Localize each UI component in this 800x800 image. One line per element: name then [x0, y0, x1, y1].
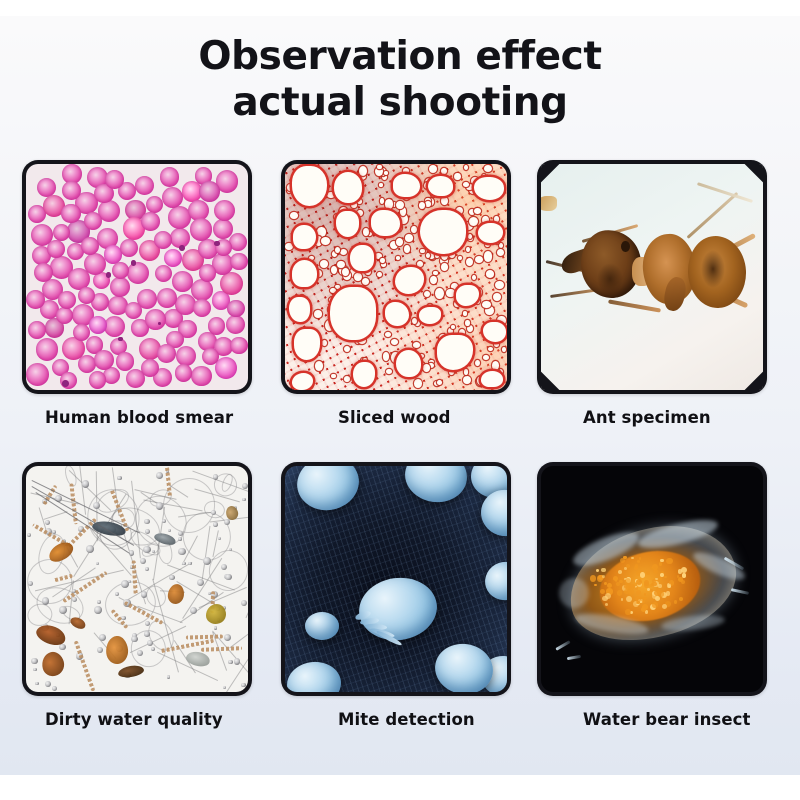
wood-vessel-pore: [420, 210, 466, 254]
micro-organism-dot: [144, 631, 150, 637]
red-blood-cell: [190, 218, 212, 240]
micro-organism-dot: [97, 647, 103, 653]
gut-granule: [655, 578, 657, 580]
wood-vessel-pore: [292, 166, 327, 206]
wood-small-cell: [483, 355, 489, 360]
micro-organism-dot: [31, 658, 38, 665]
micro-organism-dot: [35, 682, 39, 686]
wood-small-cell: [351, 202, 357, 207]
wood-small-cell: [463, 311, 467, 315]
red-blood-cell: [104, 316, 125, 337]
wood-small-cell: [464, 165, 468, 170]
sample-caption: Sliced wood: [281, 408, 511, 427]
gallery-item-mite-detection[interactable]: Mite detection: [281, 462, 511, 729]
micro-organism-dot: [190, 607, 197, 614]
wood-small-cell: [417, 261, 423, 267]
gut-granule: [602, 575, 605, 578]
micro-organism-dot: [241, 683, 245, 687]
red-blood-cell: [62, 181, 81, 200]
gut-granule: [647, 588, 650, 591]
wood-small-cell: [363, 228, 369, 235]
gut-granule: [652, 579, 656, 583]
gallery-row-1: Human blood smear Sliced wood: [22, 160, 778, 462]
wood-small-cell: [484, 251, 493, 261]
sample-image-card[interactable]: [537, 160, 767, 394]
red-blood-cell: [78, 287, 95, 304]
platelet-speck: [118, 337, 123, 342]
wood-small-cell: [451, 325, 455, 329]
wood-small-cell: [441, 197, 448, 205]
wood-small-cell: [381, 262, 386, 266]
red-blood-cell: [226, 315, 245, 334]
wood-vessel-pore: [330, 287, 376, 340]
wood-vessel-pore: [393, 174, 420, 197]
bacteria-chain: [73, 640, 95, 691]
gut-granule: [658, 584, 662, 588]
micro-organism-dot: [145, 529, 150, 534]
wood-small-cell: [437, 380, 442, 385]
sample-image-card[interactable]: [22, 160, 252, 394]
sample-image-mite-detection: [285, 466, 507, 692]
wood-small-cell: [465, 320, 469, 325]
micro-organism-dot: [45, 520, 50, 525]
wood-small-cell: [357, 199, 362, 204]
sample-image-sliced-wood: [285, 164, 507, 390]
wood-small-cell: [314, 310, 322, 317]
micro-organism-dot: [213, 522, 218, 527]
tardigrade-claw: [555, 640, 570, 651]
red-blood-cell: [116, 352, 134, 370]
wood-small-cell: [405, 234, 413, 241]
gut-granule: [605, 603, 608, 606]
gut-granule: [594, 584, 597, 587]
sample-gallery: Human blood smear Sliced wood: [22, 160, 778, 764]
micro-organism-dot: [42, 597, 49, 604]
ant-limb-6: [697, 182, 753, 203]
red-blood-cell: [141, 359, 159, 377]
gut-granule: [649, 584, 652, 587]
red-blood-cell: [199, 264, 216, 281]
wood-vessel-pore: [478, 223, 503, 243]
micro-organism-dot: [45, 681, 51, 687]
red-blood-cell: [220, 272, 243, 295]
wood-vessel-pore: [385, 302, 409, 325]
micro-organism-dot: [167, 675, 170, 678]
wood-vessel-pore: [293, 225, 316, 250]
wood-small-cell: [386, 369, 392, 374]
wood-vessel-pore: [371, 210, 400, 236]
red-blood-cell: [145, 309, 166, 330]
red-blood-cell: [84, 212, 103, 231]
micro-organism-dot: [156, 502, 163, 509]
micro-organism-dot: [59, 606, 67, 614]
microscope-photo-sliced-wood: [285, 164, 507, 390]
red-blood-cell: [157, 288, 177, 308]
red-blood-cell: [53, 224, 70, 241]
wood-small-cell: [309, 256, 314, 260]
micro-organism-dot: [229, 548, 232, 551]
wood-small-cell: [482, 301, 490, 308]
wood-small-cell: [497, 249, 504, 256]
wood-small-cell: [468, 234, 472, 239]
micro-organism-dot: [94, 606, 101, 613]
wood-small-cell: [317, 227, 325, 236]
wood-small-cell: [464, 369, 469, 374]
red-blood-cell: [127, 262, 149, 284]
wood-small-cell: [331, 374, 336, 379]
red-blood-cell: [26, 363, 49, 386]
red-blood-cell: [112, 262, 129, 279]
wood-small-cell: [404, 245, 410, 253]
sample-image-card[interactable]: [537, 462, 767, 696]
ant-marking-2: [597, 263, 624, 295]
wood-small-cell: [420, 249, 425, 254]
red-blood-cell: [160, 167, 179, 186]
wood-vessel-pore: [350, 245, 374, 271]
platelet-speck: [131, 260, 136, 265]
wood-small-cell: [335, 247, 340, 253]
red-blood-cell: [162, 187, 183, 208]
sample-caption: Ant specimen: [537, 408, 767, 427]
wood-small-cell: [429, 165, 437, 173]
tardigrade-claw: [731, 588, 749, 595]
red-blood-cell: [155, 265, 172, 282]
microscope-photo-tardigrade: [541, 466, 763, 692]
sample-image-dirty-water-quality: [26, 466, 248, 692]
gallery-item-water-bear-insect[interactable]: Water bear insect: [537, 462, 767, 729]
red-blood-cell: [175, 294, 196, 315]
debris-filament: [75, 466, 86, 515]
sample-image-card[interactable]: [281, 462, 511, 696]
gut-granule: [619, 580, 623, 584]
gut-granule: [668, 584, 671, 587]
wood-small-cell: [495, 281, 504, 289]
gut-granule: [635, 564, 639, 568]
sample-image-card[interactable]: [22, 462, 252, 696]
gut-granule: [681, 567, 687, 573]
wood-small-cell: [435, 288, 444, 299]
wood-small-cell: [380, 198, 385, 204]
sample-image-water-bear-insect: [541, 466, 763, 692]
micro-organism-dot: [82, 480, 89, 487]
wood-small-cell: [396, 201, 404, 209]
micro-organism-dot: [242, 483, 248, 489]
wood-vessel-pore: [481, 371, 503, 388]
wood-vessel-pore: [289, 297, 310, 322]
wood-vessel-pore: [396, 350, 421, 377]
red-blood-cell: [89, 316, 107, 334]
wood-small-cell: [423, 364, 430, 372]
debris-filament: [229, 608, 248, 648]
water-micro-creature: [206, 604, 226, 624]
dust-mite-body: [305, 612, 339, 640]
gut-granule: [625, 609, 630, 614]
wood-small-cell: [412, 318, 417, 325]
sample-caption: Human blood smear: [22, 408, 252, 427]
wood-small-cell: [474, 208, 481, 214]
gallery-row-2: Dirty water quality Mite detection: [22, 462, 778, 764]
micro-organism-dot: [213, 474, 218, 479]
red-blood-cell: [34, 263, 53, 282]
red-blood-cell: [176, 346, 196, 366]
micro-organism-dot: [141, 591, 147, 597]
gut-granule: [590, 575, 596, 581]
water-micro-creature: [117, 664, 144, 679]
red-blood-cell: [135, 176, 154, 195]
red-blood-cell: [89, 371, 106, 388]
water-micro-creature: [39, 650, 66, 679]
micro-organism-dot: [99, 634, 106, 641]
micro-organism-dot: [131, 636, 137, 642]
wood-small-cell: [377, 165, 381, 169]
ant-limb-5: [686, 192, 737, 239]
micro-organism-dot: [117, 476, 121, 480]
ant-neighbour-fragment: [541, 196, 557, 212]
wood-small-cell: [396, 238, 403, 246]
red-blood-cell: [110, 277, 131, 298]
wood-small-cell: [380, 258, 385, 262]
red-blood-cell: [164, 249, 182, 267]
red-blood-cell: [105, 170, 124, 189]
wood-small-cell: [502, 347, 506, 352]
micro-organism-dot: [242, 498, 245, 501]
gut-granule: [629, 584, 635, 590]
gallery-item-ant-specimen[interactable]: Ant specimen: [537, 160, 767, 427]
micro-organism-dot: [211, 510, 216, 515]
micro-organism-dot: [223, 686, 226, 689]
wood-small-cell: [335, 285, 339, 290]
wood-small-cell: [494, 216, 500, 222]
gut-granule: [655, 596, 660, 601]
sample-caption: Mite detection: [281, 710, 511, 729]
gut-granule: [623, 556, 627, 560]
wood-small-cell: [419, 202, 425, 209]
red-blood-cell: [36, 338, 59, 361]
micro-organism-dot: [224, 634, 231, 641]
wood-vessel-pore: [334, 172, 362, 203]
gut-granule: [624, 567, 627, 570]
micro-organism-dot: [178, 537, 182, 541]
micro-organism-dot: [241, 600, 247, 606]
gut-granule: [624, 589, 630, 595]
microscope-photo-ant-specimen: [541, 164, 763, 390]
red-blood-cell: [81, 237, 99, 255]
water-micro-creature: [105, 635, 130, 665]
micro-organism-dot: [145, 567, 149, 571]
wood-small-cell: [396, 256, 400, 260]
microscope-photo-mite: [285, 466, 507, 692]
gut-granule: [625, 578, 631, 584]
wood-small-cell: [426, 253, 430, 258]
micro-organism-dot: [156, 472, 163, 479]
gut-granule: [601, 568, 605, 572]
gut-granule: [659, 562, 662, 565]
micro-organism-dot: [96, 562, 99, 565]
wood-small-cell: [472, 275, 476, 280]
gut-granule: [600, 589, 605, 594]
micro-organism-dot: [145, 621, 150, 626]
sample-caption: Water bear insect: [537, 710, 767, 729]
sample-caption: Dirty water quality: [22, 710, 252, 729]
gut-granule: [636, 579, 642, 585]
red-blood-cell: [175, 364, 193, 382]
promo-page: Observation effect actual shooting Human…: [0, 0, 800, 800]
red-blood-cell: [227, 300, 245, 318]
gut-granule: [652, 602, 657, 607]
wood-small-cell: [321, 237, 330, 244]
micro-organism-dot: [97, 600, 101, 604]
sample-image-human-blood-smear: [26, 164, 248, 390]
red-blood-cell: [125, 302, 142, 319]
tardigrade-claw: [567, 655, 581, 660]
micro-organism-dot: [27, 533, 31, 537]
wood-vessel-pore: [428, 176, 453, 197]
platelet-speck: [106, 272, 111, 277]
red-blood-cell: [28, 321, 46, 339]
micro-organism-dot: [225, 574, 231, 580]
platelet-speck: [179, 245, 185, 251]
wood-small-cell: [424, 291, 430, 297]
wood-small-cell: [488, 347, 493, 351]
wood-small-cell: [344, 376, 351, 382]
gut-granule: [659, 577, 662, 580]
gut-granule: [615, 579, 617, 581]
micro-organism-dot: [168, 529, 171, 532]
water-micro-creature: [69, 615, 88, 632]
red-blood-cell: [146, 196, 164, 214]
gallery-item-sliced-wood[interactable]: Sliced wood: [281, 160, 511, 427]
micro-organism-dot: [182, 562, 186, 566]
page-title-line-1: Observation effect: [0, 34, 800, 80]
gut-granule: [617, 590, 622, 595]
platelet-speck: [214, 241, 219, 246]
ant-limb-4: [608, 300, 661, 313]
red-blood-cell: [199, 181, 220, 202]
microscope-photo-dirty-water: [26, 466, 248, 692]
sample-image-ant-specimen: [541, 164, 763, 390]
ant-eye: [621, 241, 630, 252]
gut-granule: [640, 572, 646, 578]
wood-vessel-pore: [292, 373, 313, 390]
red-blood-cell: [58, 291, 76, 309]
red-blood-cell: [56, 307, 73, 324]
water-micro-creature: [167, 583, 185, 605]
gut-granule: [652, 564, 658, 570]
bacteria-chain: [201, 646, 242, 652]
red-blood-cell: [47, 240, 65, 258]
page-title: Observation effect actual shooting: [0, 34, 800, 126]
tardigrade-cuticle-highlight: [559, 578, 589, 608]
wood-small-cell: [290, 212, 298, 219]
gut-granule: [662, 604, 667, 609]
red-blood-cell: [141, 212, 159, 230]
wood-small-cell: [463, 376, 471, 384]
wood-vessel-pore: [292, 260, 317, 287]
wood-small-cell: [494, 342, 499, 347]
red-blood-cell: [215, 357, 237, 379]
wood-small-cell: [357, 210, 363, 217]
gallery-item-dirty-water-quality[interactable]: Dirty water quality: [22, 462, 252, 729]
wood-small-cell: [441, 168, 447, 174]
sample-image-card[interactable]: [281, 160, 511, 394]
micro-organism-dot: [140, 558, 146, 564]
gut-granule: [626, 596, 632, 602]
microscope-photo-blood-smear: [26, 164, 248, 390]
wood-small-cell: [435, 253, 439, 257]
wood-small-cell: [467, 325, 473, 332]
micro-organism-dot: [234, 658, 241, 665]
gut-granule: [646, 571, 650, 575]
wood-vessel-pore: [419, 307, 441, 324]
red-blood-cell: [120, 239, 138, 257]
wood-small-cell: [469, 217, 478, 226]
page-title-line-2: actual shooting: [0, 80, 800, 126]
micro-organism-dot: [188, 562, 192, 566]
micro-organism-dot: [86, 545, 94, 553]
micro-organism-dot: [228, 660, 233, 665]
gut-granule: [621, 598, 624, 601]
wood-small-cell: [413, 342, 420, 348]
wood-small-cell: [385, 199, 394, 209]
gut-granule: [674, 600, 677, 603]
micro-organism-dot: [178, 548, 185, 555]
wood-small-cell: [486, 270, 494, 278]
gut-granule: [677, 575, 679, 577]
red-blood-cell: [61, 204, 80, 223]
wood-small-cell: [425, 201, 432, 207]
gut-granule: [666, 558, 672, 564]
wood-small-cell: [315, 361, 324, 371]
red-blood-cell: [208, 317, 226, 335]
red-blood-cell: [193, 299, 212, 318]
red-blood-cell: [230, 337, 248, 355]
micro-organism-dot: [224, 519, 230, 525]
wood-small-cell: [463, 182, 469, 187]
red-blood-cell: [172, 271, 193, 292]
micro-organism-dot: [33, 668, 37, 672]
red-blood-cell: [230, 253, 247, 270]
red-blood-cell: [191, 366, 211, 386]
red-blood-cell: [157, 344, 176, 363]
wood-small-cell: [430, 276, 436, 284]
micro-organism-dot: [214, 626, 218, 630]
micro-organism-dot: [52, 686, 57, 691]
red-blood-cell: [214, 200, 235, 221]
micro-organism-dot: [169, 575, 174, 580]
red-blood-cell: [154, 231, 172, 249]
wood-small-cell: [285, 243, 292, 250]
gallery-item-human-blood-smear[interactable]: Human blood smear: [22, 160, 252, 427]
